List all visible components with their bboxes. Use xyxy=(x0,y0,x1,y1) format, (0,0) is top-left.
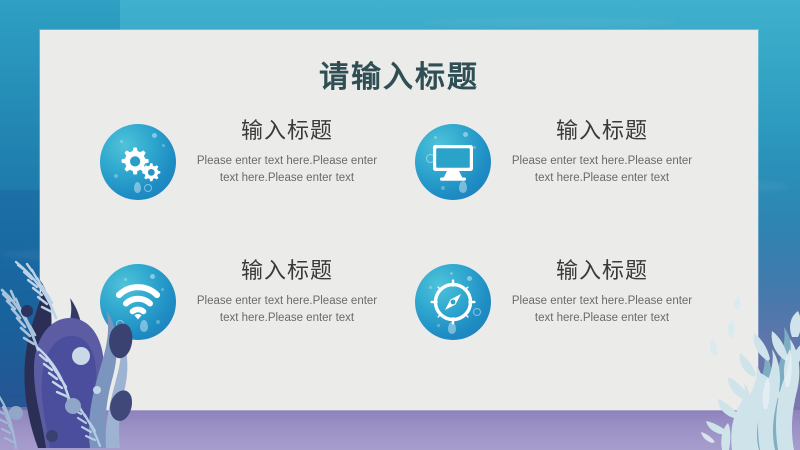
content-panel: 请输入标题 xyxy=(40,30,758,410)
monitor-icon xyxy=(415,124,491,200)
feature-item-2[interactable]: 输入标题 Please enter text here.Please enter… xyxy=(410,118,705,238)
page-title: 请输入标题 xyxy=(40,52,758,96)
feature-heading: 输入标题 xyxy=(187,258,387,286)
feature-body: Please enter text here.Please enter text… xyxy=(187,293,387,329)
slide-canvas: 请输入标题 xyxy=(0,0,800,450)
gears-icon xyxy=(100,124,176,200)
feature-text-4: 输入标题 Please enter text here.Please enter… xyxy=(502,258,702,328)
feature-heading: 输入标题 xyxy=(502,118,702,146)
feature-text-3: 输入标题 Please enter text here.Please enter… xyxy=(187,258,387,328)
coral-decoration-right xyxy=(674,275,800,450)
feature-body: Please enter text here.Please enter text… xyxy=(187,153,387,189)
water-streak xyxy=(420,18,680,27)
feature-heading: 输入标题 xyxy=(187,118,387,146)
feature-heading: 输入标题 xyxy=(502,258,702,286)
feature-grid: 输入标题 Please enter text here.Please enter… xyxy=(95,118,705,388)
feature-text-1: 输入标题 Please enter text here.Please enter… xyxy=(187,118,387,188)
feature-item-4[interactable]: 输入标题 Please enter text here.Please enter… xyxy=(410,258,705,378)
feature-body: Please enter text here.Please enter text… xyxy=(502,293,702,329)
seaweed-decoration-left xyxy=(0,210,144,450)
feature-text-2: 输入标题 Please enter text here.Please enter… xyxy=(502,118,702,188)
compass-icon xyxy=(415,264,491,340)
feature-body: Please enter text here.Please enter text… xyxy=(502,153,702,189)
